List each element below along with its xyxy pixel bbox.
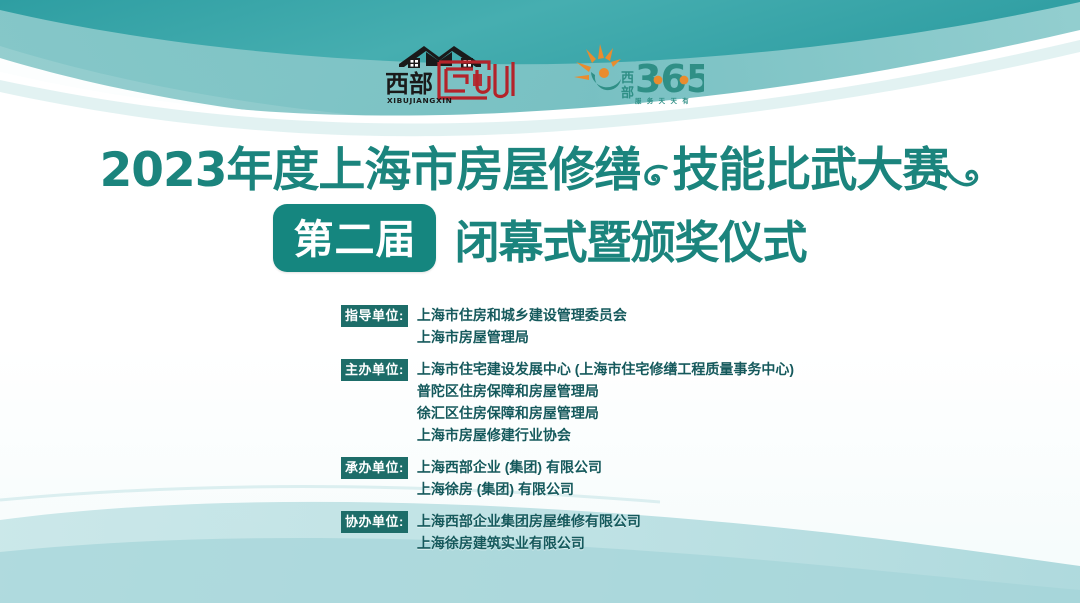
credit-block-host: 主办单位: 上海市住宅建设发展中心 (上海市住宅修缮工程质量事务中心) 普陀区住…	[341, 358, 861, 446]
title-line-2: 第二届 闭幕式暨颁奖仪式	[0, 210, 1080, 266]
credit-lines: 上海市住宅建设发展中心 (上海市住宅修缮工程质量事务中心) 普陀区住房保障和房屋…	[417, 358, 794, 446]
credit-tag: 主办单位:	[341, 359, 408, 381]
sun-icon	[574, 44, 621, 80]
credits-block: 指导单位: 上海市住房和城乡建设管理委员会 上海市房屋管理局 主办单位: 上海市…	[341, 304, 861, 564]
logo-cn-xibu: 西部	[385, 70, 433, 98]
credit-lines: 上海市住房和城乡建设管理委员会 上海市房屋管理局	[417, 304, 627, 348]
logo-365-cn-top: 西	[621, 71, 634, 86]
credit-line: 上海市住宅建设发展中心 (上海市住宅修缮工程质量事务中心)	[417, 358, 794, 380]
logo-xibu365: 西 部 365 服 务 天 天 有	[571, 42, 704, 111]
credit-line: 上海市房屋修建行业协会	[417, 424, 794, 446]
xibu-jiangxin-logo-icon: 西部 XIBUJIANGXIN	[377, 40, 527, 106]
credit-lines: 上海西部企业 (集团) 有限公司 上海徐房 (集团) 有限公司	[417, 456, 602, 500]
logo-365-tagline: 服 务 天 天 有	[635, 96, 690, 105]
credit-block-coorganizer: 协办单位: 上海西部企业集团房屋维修有限公司 上海徐房建筑实业有限公司	[341, 510, 861, 554]
title-main-part-b: 技能比武大赛	[672, 143, 948, 199]
swirl-ornament-icon	[643, 163, 669, 189]
credit-lines: 上海西部企业集团房屋维修有限公司 上海徐房建筑实业有限公司	[417, 510, 641, 554]
credit-line: 普陀区住房保障和房屋管理局	[417, 380, 794, 402]
credit-line: 上海市住房和城乡建设管理委员会	[417, 304, 627, 326]
credit-line: 上海徐房建筑实业有限公司	[417, 532, 641, 554]
credit-tag: 协办单位:	[341, 511, 408, 533]
logo-365-number: 365	[635, 57, 704, 101]
credit-line: 上海西部企业集团房屋维修有限公司	[417, 510, 641, 532]
credit-line: 上海市房屋管理局	[417, 326, 627, 348]
logo-xibujiangxin: 西部 XIBUJIANGXIN	[377, 40, 527, 111]
logo-365-cn-bottom: 部	[621, 85, 634, 101]
credit-tag: 指导单位:	[341, 305, 408, 327]
credit-block-organizer: 承办单位: 上海西部企业 (集团) 有限公司 上海徐房 (集团) 有限公司	[341, 456, 861, 500]
credit-line: 上海徐房 (集团) 有限公司	[417, 478, 602, 500]
title-line-1: 2023年度上海市房屋修缮 技能比武大赛	[0, 142, 1080, 200]
logo-row: 西部 XIBUJIANGXIN	[0, 40, 1080, 111]
xibu-365-logo-icon: 西 部 365 服 务 天 天 有	[571, 42, 704, 106]
title-main-part-a: 2023年度上海市房屋修缮	[100, 143, 641, 199]
credit-block-guidance: 指导单位: 上海市住房和城乡建设管理委员会 上海市房屋管理局	[341, 304, 861, 348]
credit-line: 上海西部企业 (集团) 有限公司	[417, 456, 602, 478]
edition-badge: 第二届	[273, 204, 436, 272]
event-poster: 西部 XIBUJIANGXIN	[0, 0, 1080, 603]
swirl-ornament-end-icon	[946, 165, 980, 195]
credit-line: 徐汇区住房保障和房屋管理局	[417, 402, 794, 424]
title-block: 2023年度上海市房屋修缮 技能比武大赛 第二届 闭幕式暨颁奖仪式	[0, 142, 1080, 266]
title-subtitle: 闭幕式暨颁奖仪式	[454, 206, 806, 271]
credit-tag: 承办单位:	[341, 457, 408, 479]
logo-pinyin: XIBUJIANGXIN	[387, 96, 452, 105]
